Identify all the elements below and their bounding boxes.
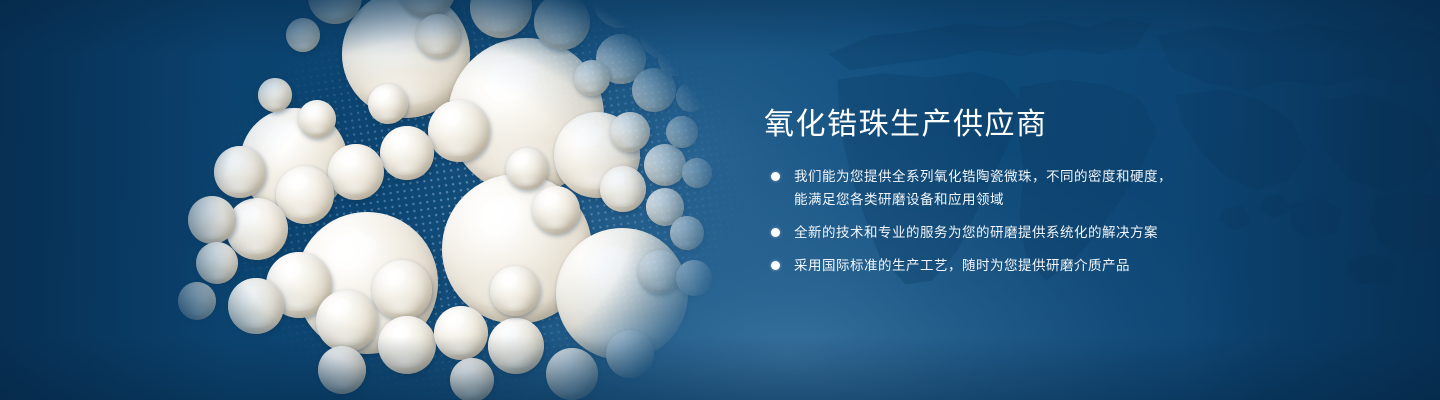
feature-list-item: 采用国际标准的生产工艺，随时为您提供研磨介质产品 <box>764 255 1234 277</box>
bullet-dot-icon <box>771 228 780 237</box>
feature-list-item: 我们能为您提供全系列氧化锆陶瓷微珠，不同的密度和硬度， 能满足您各类研磨设备和应… <box>764 166 1234 211</box>
bullet-dot-icon <box>771 172 780 181</box>
feature-text-line: 全新的技术和专业的服务为您的研磨提供系统化的解决方案 <box>794 222 1234 244</box>
hero-banner: 氧化锆珠生产供应商 我们能为您提供全系列氧化锆陶瓷微珠，不同的密度和硬度， 能满… <box>0 0 1440 400</box>
feature-text-line: 采用国际标准的生产工艺，随时为您提供研磨介质产品 <box>794 255 1234 277</box>
feature-text-line: 我们能为您提供全系列氧化锆陶瓷微珠，不同的密度和硬度， <box>794 166 1234 188</box>
banner-headline: 氧化锆珠生产供应商 <box>764 106 1234 144</box>
banner-feature-list: 我们能为您提供全系列氧化锆陶瓷微珠，不同的密度和硬度， 能满足您各类研磨设备和应… <box>764 166 1234 277</box>
feature-list-item: 全新的技术和专业的服务为您的研磨提供系统化的解决方案 <box>764 222 1234 244</box>
feature-text-line: 能满足您各类研磨设备和应用领域 <box>794 189 1234 211</box>
banner-content: 氧化锆珠生产供应商 我们能为您提供全系列氧化锆陶瓷微珠，不同的密度和硬度， 能满… <box>764 106 1234 277</box>
bullet-dot-icon <box>771 261 780 270</box>
